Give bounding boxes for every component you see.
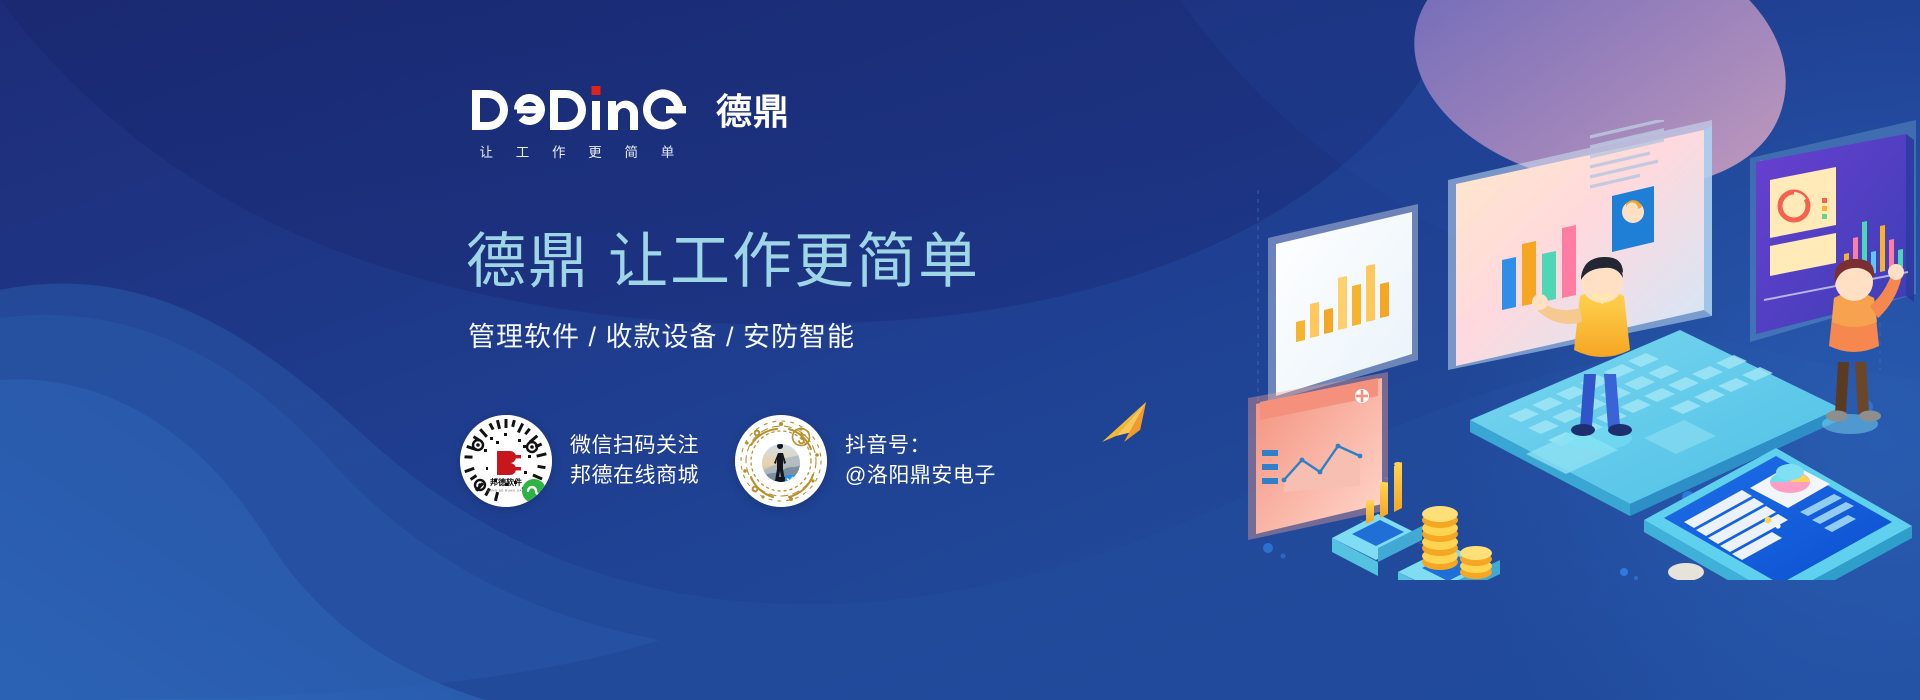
logo-chinese-name: 德鼎: [716, 94, 790, 130]
svg-text:BANG DE RUAN JIAN: BANG DE RUAN JIAN: [488, 489, 525, 493]
banner-stage: 德鼎 让 工 作 更 简 单 德鼎让工作更简单 管理软件 / 收款设备 / 安防…: [0, 0, 1920, 700]
douyin-qr-caption: 抖音号： @洛阳鼎安电子: [845, 431, 996, 491]
logo-row: 德鼎: [470, 86, 790, 132]
content-column: 德鼎 让 工 作 更 简 单 德鼎让工作更简单 管理软件 / 收款设备 / 安防…: [0, 0, 1100, 700]
brand-logo[interactable]: 德鼎 让 工 作 更 简 单: [470, 86, 790, 161]
logo-slogan: 让 工 作 更 简 单: [470, 141, 790, 161]
wechat-caption-line1: 微信扫码关注: [570, 431, 699, 461]
hero-headline-brand: 德鼎: [466, 228, 590, 295]
qr-code-row: 邦德软件 BANG DE RUAN JIAN 微信扫码关注 邦德在线商城: [460, 415, 996, 507]
hero-headline-text: 让工作更简单: [608, 228, 980, 295]
douyin-caption-line1: 抖音号：: [845, 431, 996, 461]
qr-item-douyin[interactable]: 抖音号： @洛阳鼎安电子: [735, 415, 996, 507]
wechat-qr-inner-label: 邦德软件: [490, 477, 522, 487]
qr-item-wechat[interactable]: 邦德软件 BANG DE RUAN JIAN 微信扫码关注 邦德在线商城: [460, 415, 699, 507]
wechat-qr-code-icon[interactable]: 邦德软件 BANG DE RUAN JIAN: [460, 415, 552, 507]
hero-subtitle: 管理软件 / 收款设备 / 安防智能: [468, 324, 855, 351]
deding-wordmark-icon: [470, 86, 706, 132]
wechat-miniprogram-badge-icon: [522, 479, 546, 503]
wechat-qr-caption: 微信扫码关注 邦德在线商城: [570, 431, 699, 491]
hero-headline: 德鼎让工作更简单: [466, 232, 980, 292]
bar-chart-panel: [1268, 204, 1418, 402]
paper-plane-icon: [1098, 398, 1158, 454]
logo-accent-dot-icon: [592, 86, 601, 95]
douyin-qr-code-icon[interactable]: [735, 415, 827, 507]
hero-illustration: [1240, 120, 1920, 580]
douyin-caption-line2: @洛阳鼎安电子: [845, 461, 996, 491]
wechat-caption-line2: 邦德在线商城: [570, 461, 699, 491]
